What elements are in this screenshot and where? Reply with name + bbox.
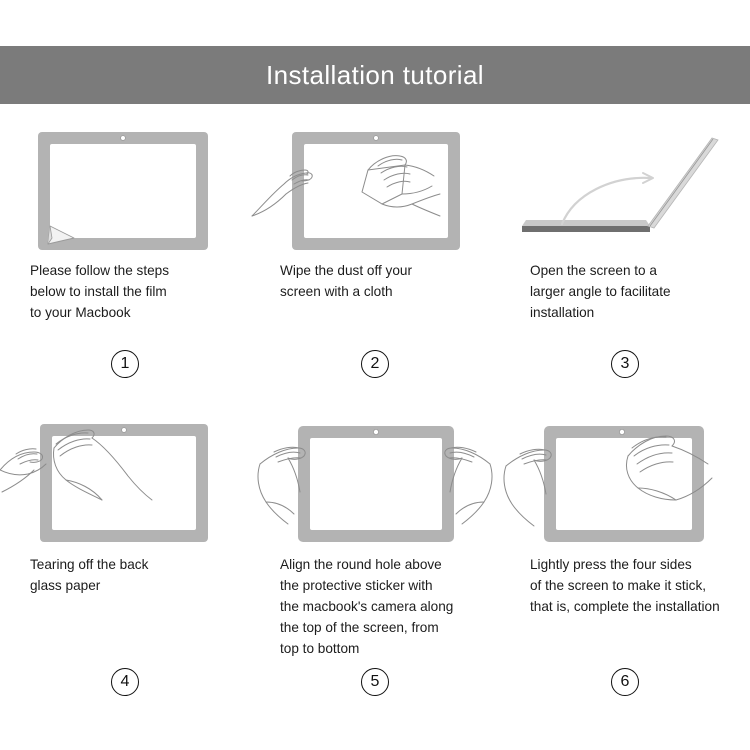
caption-line: larger angle to facilitate xyxy=(530,281,730,302)
caption-line: of the screen to make it stick, xyxy=(530,575,730,596)
step-6-illustration xyxy=(500,414,750,554)
header-bar: Installation tutorial xyxy=(0,46,750,104)
step-card-5: Align the round hole above the protectiv… xyxy=(250,408,500,696)
step-6-number-wrap: 6 xyxy=(500,666,750,696)
step-2-caption: Wipe the dust off your screen with a clo… xyxy=(250,260,500,348)
step-number-badge: 1 xyxy=(111,350,139,378)
step-card-1: Please follow the steps below to install… xyxy=(0,120,250,378)
step-card-4: Tearing off the back glass paper 4 xyxy=(0,408,250,696)
tutorial-page: Installation tutorial Please foll xyxy=(0,0,750,750)
step-2-number-wrap: 2 xyxy=(250,348,500,378)
step-3-illustration xyxy=(500,120,750,260)
steps-row-1: Please follow the steps below to install… xyxy=(0,120,750,378)
step-card-3: Open the screen to a larger angle to fac… xyxy=(500,120,750,378)
caption-line: Tearing off the back xyxy=(30,554,230,575)
step-5-illustration xyxy=(250,414,500,554)
caption-line: top to bottom xyxy=(280,638,480,659)
page-title: Installation tutorial xyxy=(266,60,484,91)
caption-line: to your Macbook xyxy=(30,302,230,323)
step-number-badge: 5 xyxy=(361,668,389,696)
caption-line: Align the round hole above xyxy=(280,554,480,575)
caption-line: the top of the screen, from xyxy=(280,617,480,638)
step-2-illustration xyxy=(250,120,500,260)
caption-line: the protective sticker with xyxy=(280,575,480,596)
caption-line: screen with a cloth xyxy=(280,281,480,302)
caption-line: the macbook's camera along xyxy=(280,596,480,617)
caption-line: Open the screen to a xyxy=(530,260,730,281)
step-5-caption: Align the round hole above the protectiv… xyxy=(250,554,500,666)
step-1-illustration xyxy=(0,120,250,260)
step-1-number-wrap: 1 xyxy=(0,348,250,378)
step-card-6: Lightly press the four sides of the scre… xyxy=(500,408,750,696)
step-4-caption: Tearing off the back glass paper xyxy=(0,554,250,666)
step-number-badge: 3 xyxy=(611,350,639,378)
caption-line: glass paper xyxy=(30,575,230,596)
step-3-number-wrap: 3 xyxy=(500,348,750,378)
caption-line: installation xyxy=(530,302,730,323)
step-4-number-wrap: 4 xyxy=(0,666,250,696)
caption-line: that is, complete the installation xyxy=(530,596,730,617)
step-5-number-wrap: 5 xyxy=(250,666,500,696)
step-number-badge: 2 xyxy=(361,350,389,378)
step-1-caption: Please follow the steps below to install… xyxy=(0,260,250,348)
step-6-caption: Lightly press the four sides of the scre… xyxy=(500,554,750,666)
step-3-caption: Open the screen to a larger angle to fac… xyxy=(500,260,750,348)
steps-row-2: Tearing off the back glass paper 4 xyxy=(0,408,750,696)
caption-line: Wipe the dust off your xyxy=(280,260,480,281)
step-number-badge: 4 xyxy=(111,668,139,696)
step-number-badge: 6 xyxy=(611,668,639,696)
caption-line: Lightly press the four sides xyxy=(530,554,730,575)
caption-line: below to install the film xyxy=(30,281,230,302)
caption-line: Please follow the steps xyxy=(30,260,230,281)
step-4-illustration xyxy=(0,414,250,554)
step-card-2: Wipe the dust off your screen with a clo… xyxy=(250,120,500,378)
